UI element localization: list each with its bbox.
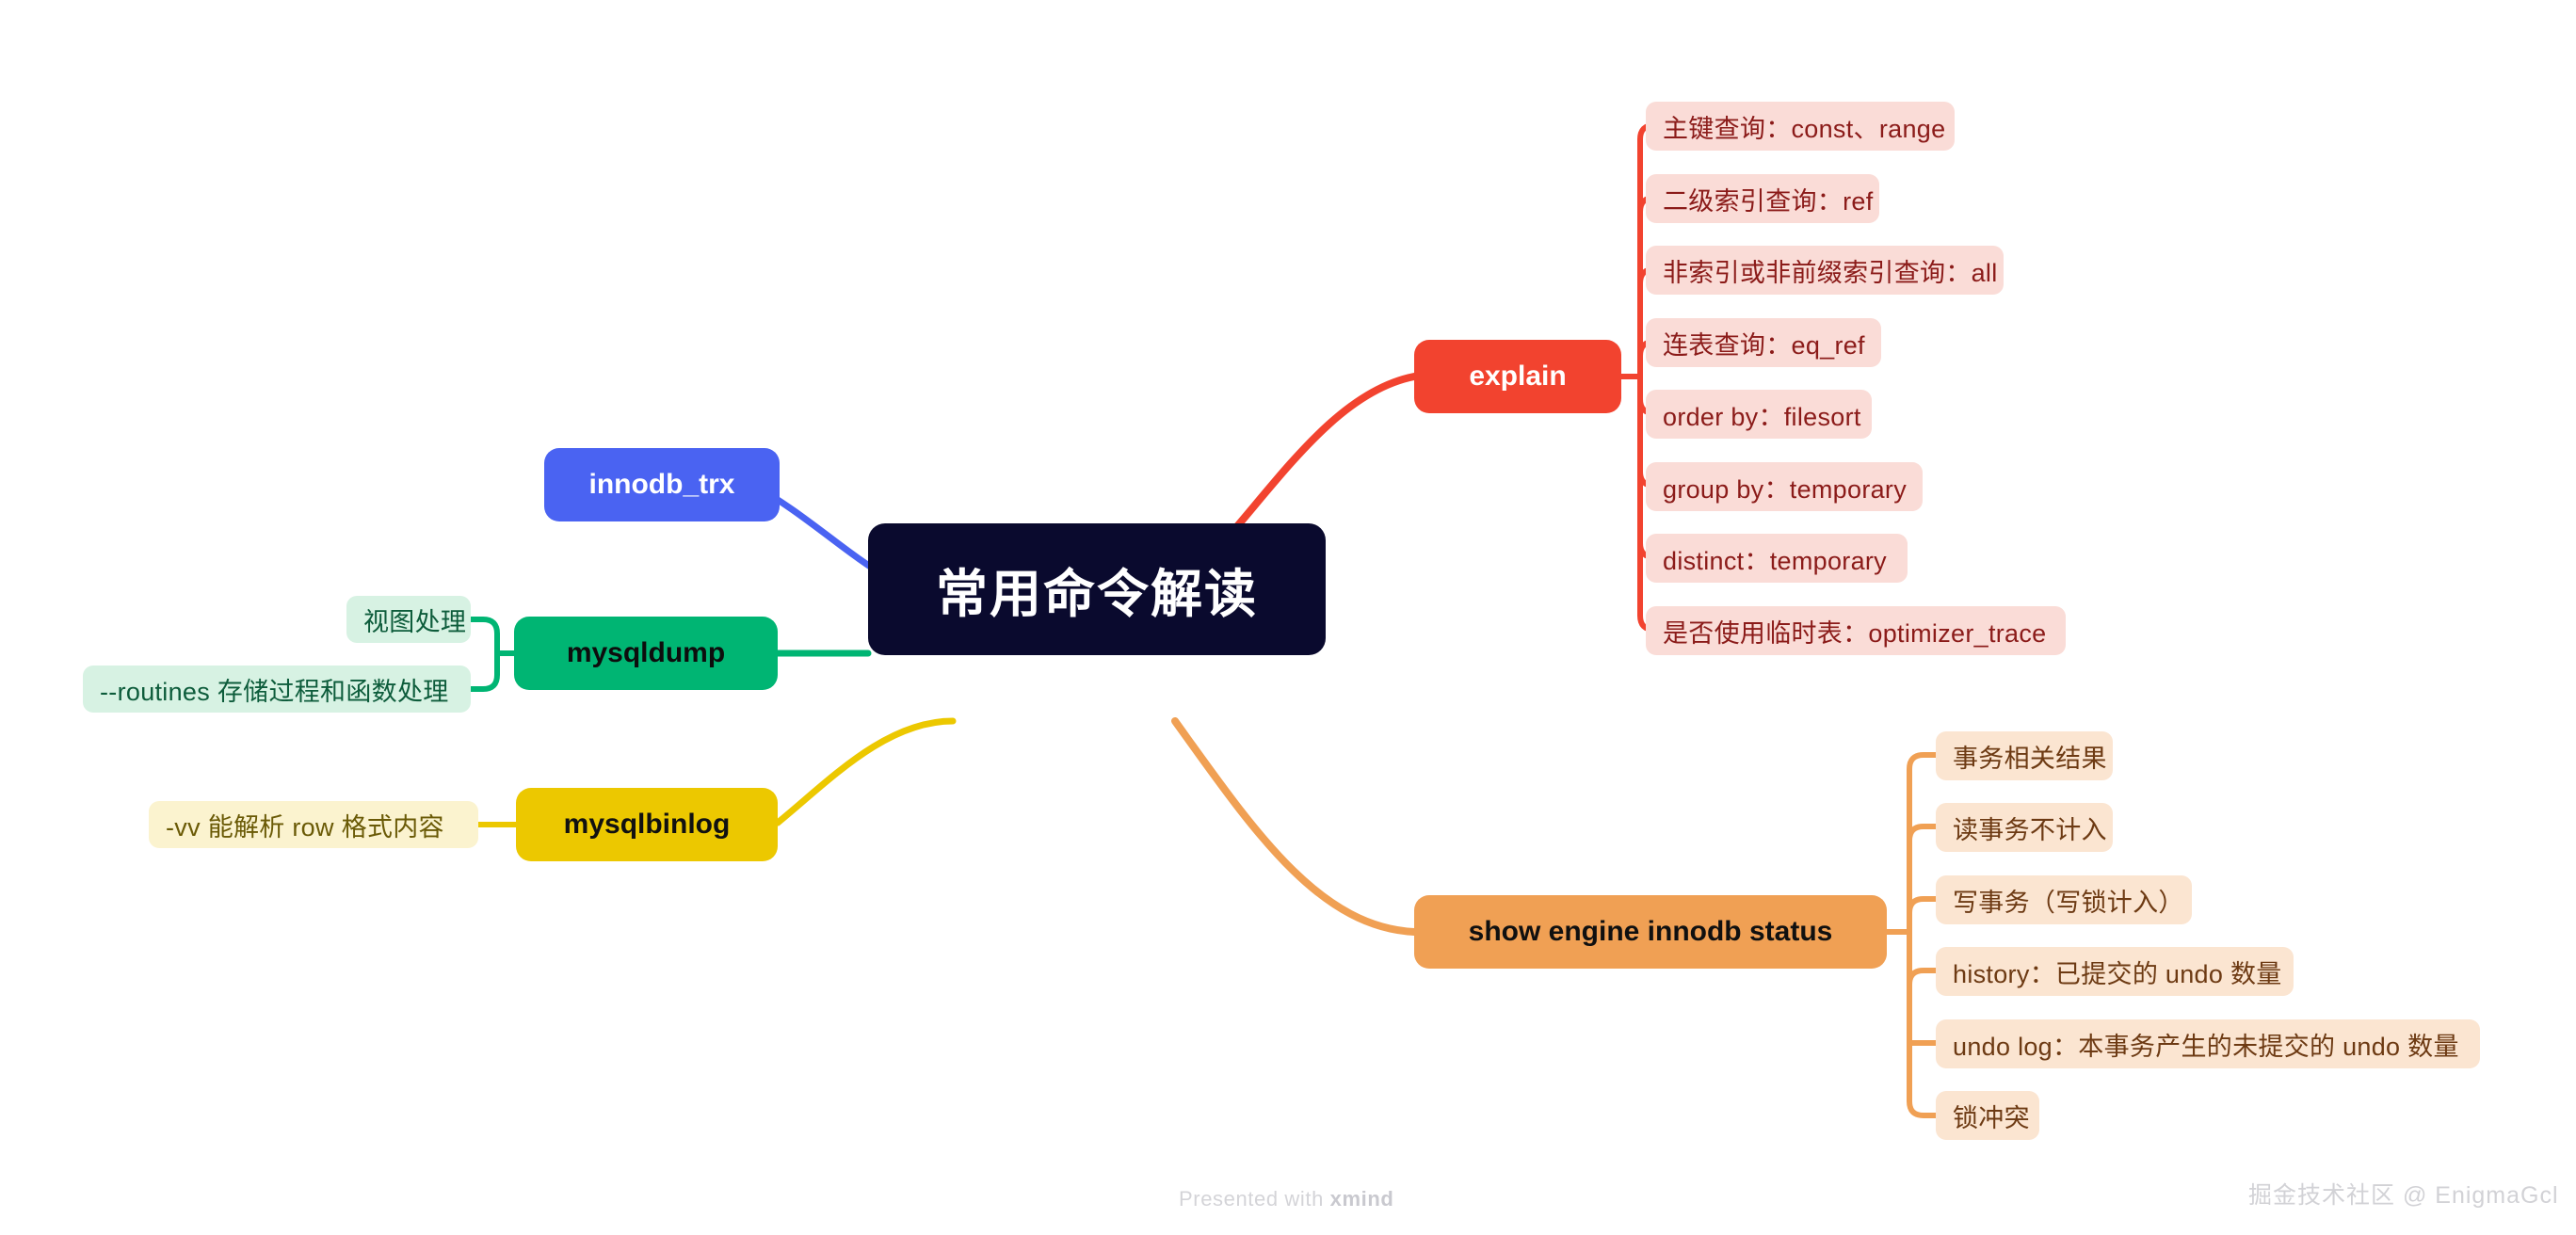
leaf-mysqlbinlog-0-label: -vv 能解析 row 格式内容	[166, 807, 444, 843]
leaf-showengine-2-label: 写事务（写锁计入）	[1953, 882, 2184, 919]
leaf-explain-4-label: order by：filesort	[1663, 396, 1861, 433]
leaf-mysqldump-1[interactable]: --routines 存储过程和函数处理	[83, 666, 471, 713]
branch-mysqlbinlog-label: mysqlbinlog	[564, 809, 731, 841]
leaf-explain-2-label: 非索引或非前缀索引查询：all	[1663, 252, 1998, 289]
leaf-explain-6[interactable]: distinct：temporary	[1646, 534, 1908, 583]
leaf-showengine-1-label: 读事务不计入	[1953, 810, 2107, 846]
leaf-showengine-2[interactable]: 写事务（写锁计入）	[1936, 875, 2192, 924]
leaf-explain-2[interactable]: 非索引或非前缀索引查询：all	[1646, 246, 2004, 295]
leaf-mysqldump-1-label: --routines 存储过程和函数处理	[100, 671, 449, 708]
mindmap-canvas: 常用命令解读 innodb_trx mysqldump 视图处理 --routi…	[0, 0, 2576, 1235]
leaf-explain-4[interactable]: order by：filesort	[1646, 390, 1872, 439]
branch-innodb-trx-label: innodb_trx	[589, 469, 735, 501]
leaf-mysqldump-0[interactable]: 视图处理	[346, 596, 471, 643]
leaf-showengine-0[interactable]: 事务相关结果	[1936, 731, 2113, 780]
xmind-watermark-prefix: Presented with	[1179, 1187, 1330, 1211]
leaf-explain-3[interactable]: 连表查询：eq_ref	[1646, 318, 1881, 367]
branch-innodb-trx[interactable]: innodb_trx	[544, 448, 780, 521]
link-mysqldump-child-0	[471, 619, 497, 653]
author-watermark: 掘金技术社区 @ EnigmaGcl	[2248, 1177, 2559, 1211]
leaf-explain-5[interactable]: group by：temporary	[1646, 462, 1923, 511]
leaf-showengine-5-label: 锁冲突	[1953, 1098, 2030, 1134]
leaf-explain-7-label: 是否使用临时表：optimizer_trace	[1663, 613, 2046, 650]
leaf-explain-1[interactable]: 二级索引查询：ref	[1646, 174, 1879, 223]
leaf-showengine-5[interactable]: 锁冲突	[1936, 1091, 2039, 1140]
root-node-label: 常用命令解读	[936, 552, 1258, 627]
branch-mysqlbinlog[interactable]: mysqlbinlog	[516, 788, 778, 861]
leaf-mysqlbinlog-0[interactable]: -vv 能解析 row 格式内容	[149, 801, 478, 848]
xmind-watermark: Presented with xmind	[1179, 1187, 1393, 1211]
link-mysqldump-child-1	[471, 653, 497, 689]
leaf-explain-7[interactable]: 是否使用临时表：optimizer_trace	[1646, 606, 2066, 655]
branch-mysqldump[interactable]: mysqldump	[514, 617, 778, 690]
branch-mysqldump-label: mysqldump	[567, 637, 725, 669]
xmind-brand: xmind	[1330, 1187, 1394, 1211]
leaf-explain-1-label: 二级索引查询：ref	[1663, 181, 1874, 217]
leaf-explain-0[interactable]: 主键查询：const、range	[1646, 102, 1955, 151]
leaf-showengine-3[interactable]: history：已提交的 undo 数量	[1936, 947, 2294, 996]
leaf-explain-3-label: 连表查询：eq_ref	[1663, 325, 1865, 361]
root-node[interactable]: 常用命令解读	[868, 523, 1326, 655]
leaf-showengine-4-label: undo log：本事务产生的未提交的 undo 数量	[1953, 1026, 2459, 1063]
leaf-showengine-3-label: history：已提交的 undo 数量	[1953, 954, 2282, 990]
leaf-showengine-4[interactable]: undo log：本事务产生的未提交的 undo 数量	[1936, 1019, 2480, 1068]
branch-show-engine-innodb-status[interactable]: show engine innodb status	[1414, 895, 1887, 969]
leaf-explain-5-label: group by：temporary	[1663, 469, 1907, 505]
branch-explain-label: explain	[1469, 361, 1566, 393]
author-watermark-label: 掘金技术社区 @ EnigmaGcl	[2248, 1182, 2559, 1209]
leaf-explain-6-label: distinct：temporary	[1663, 540, 1887, 577]
branch-explain[interactable]: explain	[1414, 340, 1621, 413]
leaf-showengine-0-label: 事务相关结果	[1953, 738, 2107, 775]
leaf-mysqldump-0-label: 视图处理	[363, 601, 466, 638]
leaf-explain-0-label: 主键查询：const、range	[1663, 108, 1945, 145]
link-root-mysqlbinlog	[778, 721, 953, 823]
branch-show-engine-innodb-status-label: show engine innodb status	[1469, 916, 1833, 948]
leaf-showengine-1[interactable]: 读事务不计入	[1936, 803, 2113, 852]
link-root-show-engine	[1175, 721, 1414, 932]
